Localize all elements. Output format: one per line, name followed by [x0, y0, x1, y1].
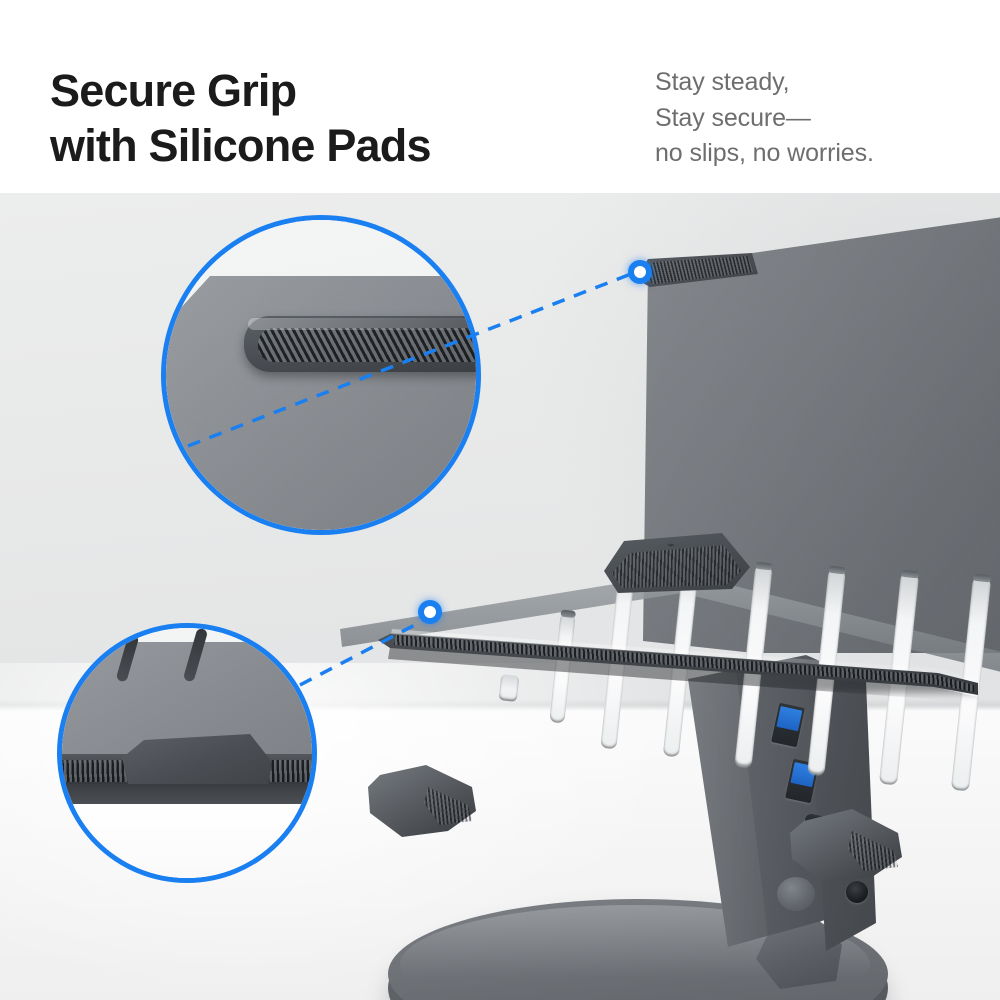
product-photo: ⌁	[0, 193, 1000, 1000]
callout-leader-lines	[0, 193, 1000, 1000]
subheadline-text: Stay steady, Stay secure— no slips, no w…	[655, 65, 874, 172]
marker-dot-top-pad[interactable]	[628, 260, 652, 284]
product-feature-poster: Secure Grip with Silicone Pads Stay stea…	[0, 0, 1000, 1000]
leader-line-bottom	[300, 618, 428, 685]
page-title: Secure Grip with Silicone Pads	[50, 64, 431, 174]
header-band: Secure Grip with Silicone Pads Stay stea…	[0, 0, 1000, 193]
leader-line-top	[188, 272, 636, 446]
marker-dot-bottom-lip[interactable]	[418, 600, 442, 624]
